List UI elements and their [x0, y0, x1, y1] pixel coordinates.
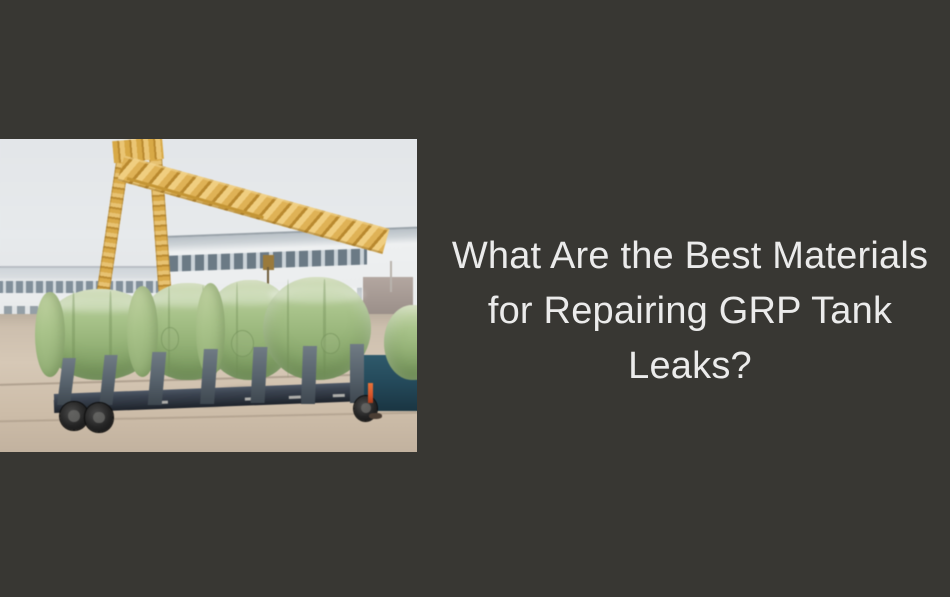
slide-canvas: What Are the Best Materials for Repairin…	[0, 0, 950, 597]
deck-marker	[289, 396, 301, 400]
tank-manway-port	[321, 333, 340, 354]
hero-photo	[0, 139, 417, 452]
trailer-wheel	[85, 403, 112, 431]
deck-marker	[333, 394, 345, 398]
trailer-wheel	[60, 402, 87, 430]
tank-highlight	[269, 286, 364, 303]
debris-mark	[369, 413, 382, 419]
safety-cone	[368, 383, 373, 403]
tank-rib	[287, 279, 290, 378]
tank-saddle	[301, 346, 317, 404]
wheel-hub	[68, 410, 79, 422]
tank-rib	[323, 279, 326, 378]
wheel-hub	[361, 403, 371, 414]
tank-end-cap	[35, 292, 64, 377]
tank-manway-port	[161, 327, 180, 351]
tank-saddle	[350, 344, 363, 403]
page-title: What Are the Best Materials for Repairin…	[440, 229, 940, 394]
photo-scene	[0, 139, 417, 452]
wheel-hub	[93, 412, 104, 424]
